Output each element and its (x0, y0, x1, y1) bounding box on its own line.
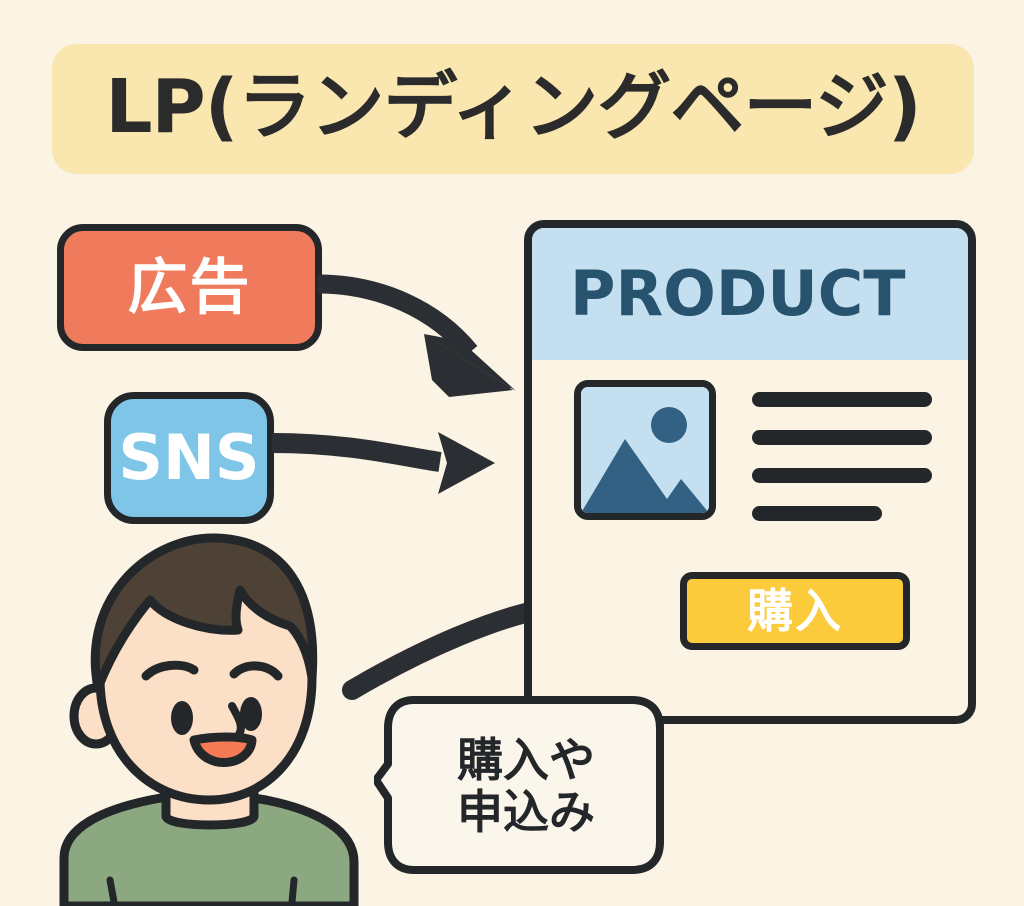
image-placeholder-icon (574, 380, 716, 520)
body-text-lines (752, 392, 932, 544)
person-illustration (54, 528, 384, 906)
source-chip-sns-label: SNS (118, 427, 259, 489)
source-chip-ad[interactable]: 広告 (57, 224, 322, 351)
product-title: PRODUCT (570, 263, 906, 325)
speech-bubble-line-2: 申込み (457, 786, 595, 838)
landing-page-card[interactable]: PRODUCT 購入 (524, 220, 976, 724)
purchase-button-label: 購入 (747, 588, 843, 634)
page-title: LP(ランディングページ) (105, 70, 920, 144)
arrow-ad-to-lp (318, 284, 516, 397)
source-chip-ad-label: 広告 (128, 258, 252, 318)
source-chip-sns[interactable]: SNS (104, 392, 274, 524)
title-banner: LP(ランディングページ) (52, 44, 974, 174)
landing-page-header: PRODUCT (532, 228, 968, 360)
diagram-canvas: LP(ランディングページ) 広告 SNS PRODUCT (0, 0, 1024, 906)
text-line (752, 468, 932, 483)
arrow-sns-to-lp (272, 432, 495, 494)
speech-bubble: 購入や 申込み (374, 694, 666, 876)
purchase-button[interactable]: 購入 (680, 572, 910, 650)
speech-bubble-line-1: 購入や (457, 734, 595, 786)
landing-page-body: 購入 (532, 360, 968, 724)
text-line (752, 506, 882, 521)
speech-bubble-text: 購入や 申込み (408, 716, 644, 856)
text-line (752, 392, 932, 407)
text-line (752, 430, 932, 445)
